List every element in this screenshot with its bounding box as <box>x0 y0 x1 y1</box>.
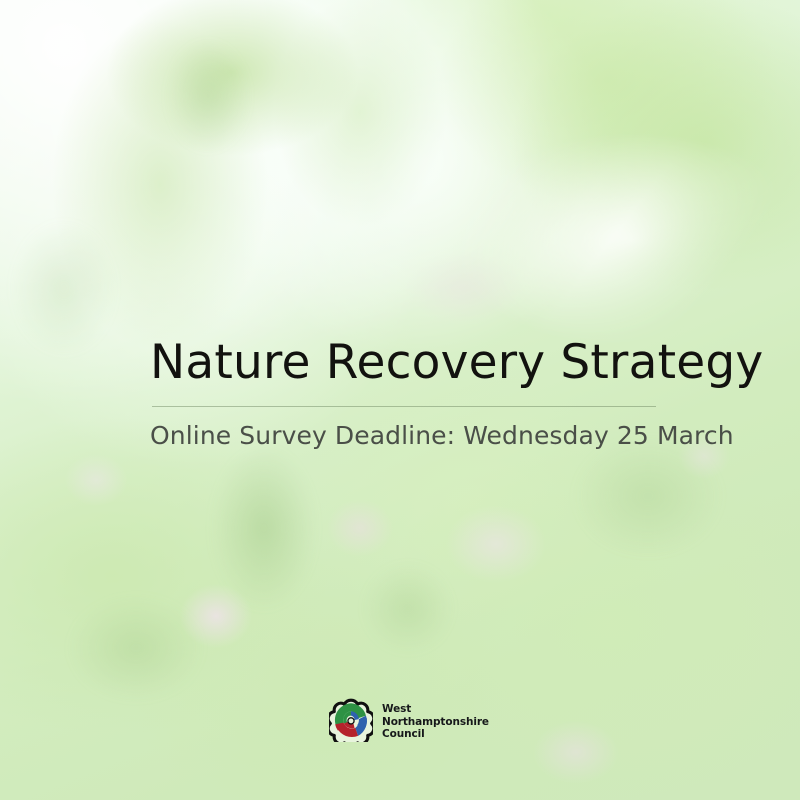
wordmark-line-council: Council <box>382 728 489 741</box>
title-divider <box>152 406 656 407</box>
poster-text-block: Nature Recovery Strategy Online Survey D… <box>150 336 658 450</box>
wordmark-line-northamptonshire: Northamptonshire <box>382 716 489 729</box>
poster-subtitle: Online Survey Deadline: Wednesday 25 Mar… <box>150 421 658 450</box>
west-northamptonshire-council-rosette-icon <box>329 698 373 746</box>
wordmark-line-west: West <box>382 703 489 716</box>
council-logo-lockup[interactable]: West Northamptonshire Council <box>329 698 489 746</box>
page-title: Nature Recovery Strategy <box>150 336 658 391</box>
council-wordmark: West Northamptonshire Council <box>382 703 489 741</box>
poster-canvas: Nature Recovery Strategy Online Survey D… <box>0 0 800 800</box>
